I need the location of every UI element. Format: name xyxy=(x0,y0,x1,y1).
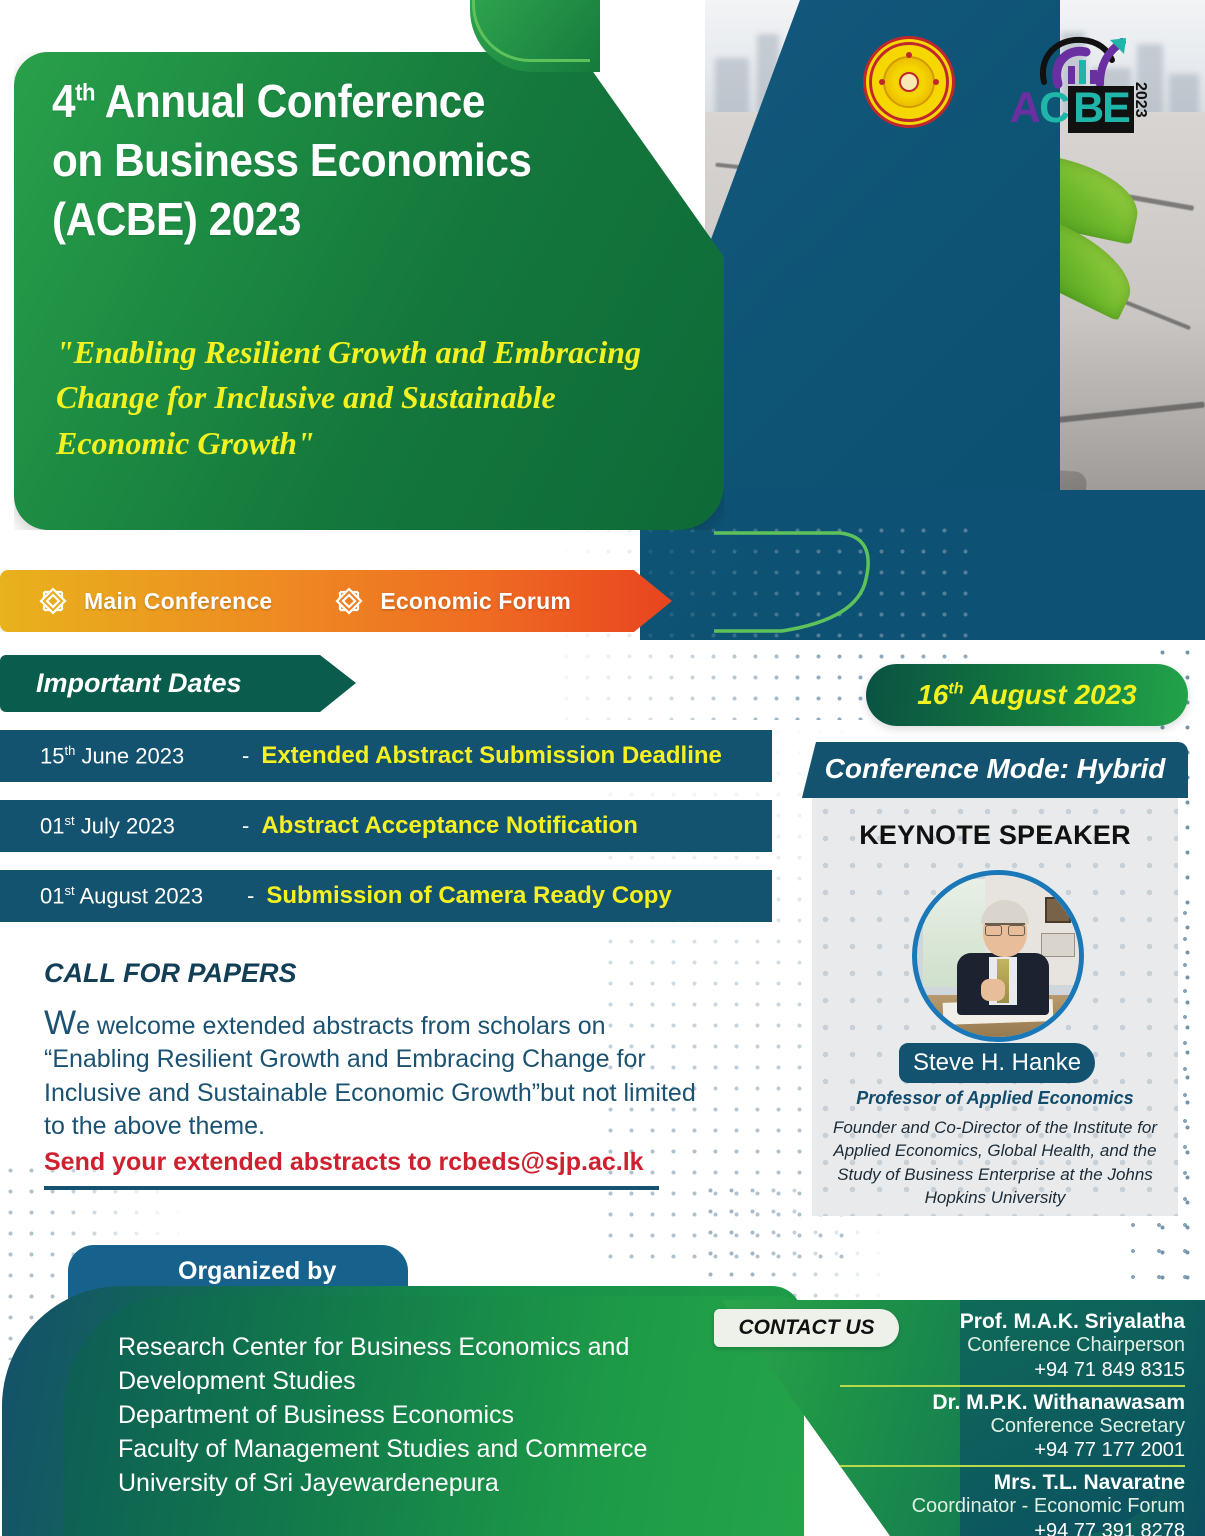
page-title: 4th Annual Conference on Business Econom… xyxy=(52,72,604,249)
date-dash-2: - xyxy=(242,813,249,839)
date-dash-1: - xyxy=(242,743,249,769)
contact-role-3: Coordinator - Economic Forum xyxy=(840,1495,1185,1518)
speaker-name-label: Steve H. Hanke xyxy=(913,1049,1081,1077)
diamond-ornament-icon-2 xyxy=(334,586,364,616)
title-line-1: 4th Annual Conference xyxy=(52,75,485,127)
poster-root: 4th Annual Conference on Business Econom… xyxy=(0,0,1205,1536)
acbe-logo-year: 2023 xyxy=(1131,82,1149,118)
title-line-2: on Business Economics xyxy=(52,134,532,186)
important-dates-heading: Important Dates xyxy=(0,655,356,712)
contact-name-1: Prof. M.A.K. Sriyalatha xyxy=(840,1310,1185,1334)
keynote-speaker-label: KEYNOTE SPEAKER xyxy=(812,820,1178,851)
conference-mode-bar: Conference Mode: Hybrid xyxy=(802,742,1188,798)
submission-email-line[interactable]: Send your extended abstracts to rcbeds@s… xyxy=(44,1148,659,1190)
contact-person-3: Mrs. T.L. Navaratne Coordinator - Econom… xyxy=(840,1471,1185,1536)
university-emblem-icon xyxy=(869,42,949,122)
contact-phone-3[interactable]: +94 77 391 8278 xyxy=(840,1519,1185,1536)
contact-name-3: Mrs. T.L. Navaratne xyxy=(840,1471,1185,1495)
speaker-role: Professor of Applied Economics xyxy=(812,1088,1178,1109)
acbe-wordmark: ACBE xyxy=(1010,86,1134,133)
event-date-label: 16th August 2023 xyxy=(917,679,1137,711)
keynote-speaker-card: KEYNOTE SPEAKER Steve H. Hanke Professor… xyxy=(812,798,1178,1216)
track-label-economic-forum[interactable]: Economic Forum xyxy=(380,588,571,615)
contact-person-1: Prof. M.A.K. Sriyalatha Conference Chair… xyxy=(840,1310,1185,1387)
contact-phone-1[interactable]: +94 71 849 8315 xyxy=(840,1358,1185,1382)
speaker-bio: Founder and Co-Director of the Institute… xyxy=(828,1116,1162,1210)
contact-role-1: Conference Chairperson xyxy=(840,1334,1185,1357)
contact-person-2: Dr. M.P.K. Withanawasam Conference Secre… xyxy=(840,1391,1185,1468)
speaker-name-badge: Steve H. Hanke xyxy=(899,1043,1095,1083)
call-for-papers-dropcap: W xyxy=(44,1004,76,1042)
call-for-papers-body: We welcome extended abstracts from schol… xyxy=(44,1010,704,1143)
call-for-papers-title: CALL FOR PAPERS xyxy=(44,958,297,989)
contact-role-2: Conference Secretary xyxy=(840,1415,1185,1438)
conference-theme: "Enabling Resilient Growth and Embracing… xyxy=(56,330,696,466)
date-value-1: 15th June 2023 xyxy=(40,743,230,769)
acbe-logo: ACBE 2023 xyxy=(1010,36,1150,136)
date-value-2: 01st July 2023 xyxy=(40,813,230,839)
date-value-3: 01st August 2023 xyxy=(40,883,235,909)
date-label-3: Submission of Camera Ready Copy xyxy=(266,882,671,910)
organizer-lines: Research Center for Business Economics a… xyxy=(118,1330,738,1500)
green-swoosh-decoration xyxy=(700,527,890,637)
title-line-3: (ACBE) 2023 xyxy=(52,193,301,245)
contact-phone-2[interactable]: +94 77 177 2001 xyxy=(840,1438,1185,1462)
date-label-1: Extended Abstract Submission Deadline xyxy=(261,742,722,770)
contact-name-2: Dr. M.P.K. Withanawasam xyxy=(840,1391,1185,1415)
event-date-badge: 16th August 2023 xyxy=(866,664,1188,726)
date-row-1: 15th June 2023 - Extended Abstract Submi… xyxy=(0,730,772,782)
date-dash-3: - xyxy=(247,883,254,909)
conference-mode-label: Conference Mode: Hybrid xyxy=(802,753,1188,785)
date-row-2: 01st July 2023 - Abstract Acceptance Not… xyxy=(0,800,772,852)
avatar xyxy=(912,870,1084,1042)
diamond-ornament-icon xyxy=(38,586,68,616)
call-for-papers-text: e welcome extended abstracts from schola… xyxy=(44,1012,696,1140)
conference-tracks-ribbon: Main Conference Economic Forum xyxy=(0,570,672,632)
track-label-main-conference[interactable]: Main Conference xyxy=(84,588,272,615)
important-dates-heading-label: Important Dates xyxy=(36,668,242,699)
organized-by-heading-label: Organized by xyxy=(178,1257,336,1286)
date-label-2: Abstract Acceptance Notification xyxy=(261,812,638,840)
date-row-3: 01st August 2023 - Submission of Camera … xyxy=(0,870,772,922)
acbe-logo-mark-icon xyxy=(1038,36,1130,90)
contact-list: Prof. M.A.K. Sriyalatha Conference Chair… xyxy=(840,1310,1185,1536)
